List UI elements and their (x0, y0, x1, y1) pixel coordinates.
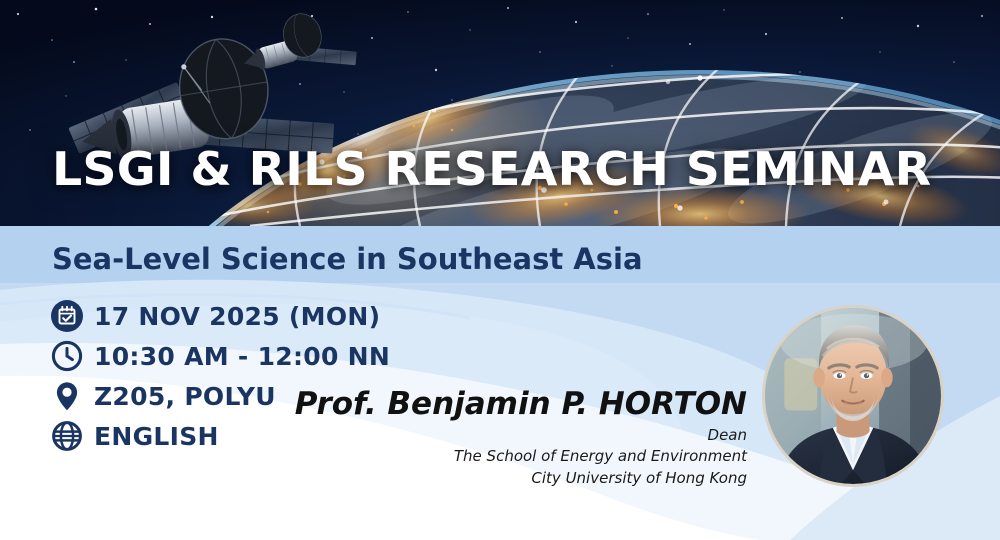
hero-space-image: LSGI & RILS RESEARCH SEMINAR (0, 0, 1000, 226)
speaker-photo (762, 305, 944, 487)
detail-label-time: 10:30 AM - 12:00 NN (94, 342, 390, 371)
seminar-poster: LSGI & RILS RESEARCH SEMINAR Sea-Level S… (0, 0, 1000, 540)
detail-label-language: ENGLISH (94, 422, 219, 451)
speaker-block: Prof. Benjamin P. HORTON Dean The School… (295, 387, 747, 489)
detail-row-date: 17 NOV 2025 (MON) (50, 296, 390, 336)
clock-icon (50, 339, 94, 373)
avatar (765, 308, 941, 484)
detail-label-date: 17 NOV 2025 (MON) (94, 302, 380, 331)
detail-row-time: 10:30 AM - 12:00 NN (50, 336, 390, 376)
speaker-institution: City University of Hong Kong (295, 468, 747, 489)
speaker-department: The School of Energy and Environment (295, 446, 747, 467)
speaker-title: Dean (295, 425, 747, 446)
seminar-subtitle: Sea-Level Science in Southeast Asia (52, 243, 643, 276)
detail-label-venue: Z205, POLYU (94, 382, 276, 411)
location-icon (50, 379, 94, 413)
globe-icon (50, 419, 94, 453)
calendar-icon (50, 299, 94, 333)
page-title: LSGI & RILS RESEARCH SEMINAR (52, 146, 931, 192)
speaker-name: Prof. Benjamin P. HORTON (295, 387, 747, 421)
